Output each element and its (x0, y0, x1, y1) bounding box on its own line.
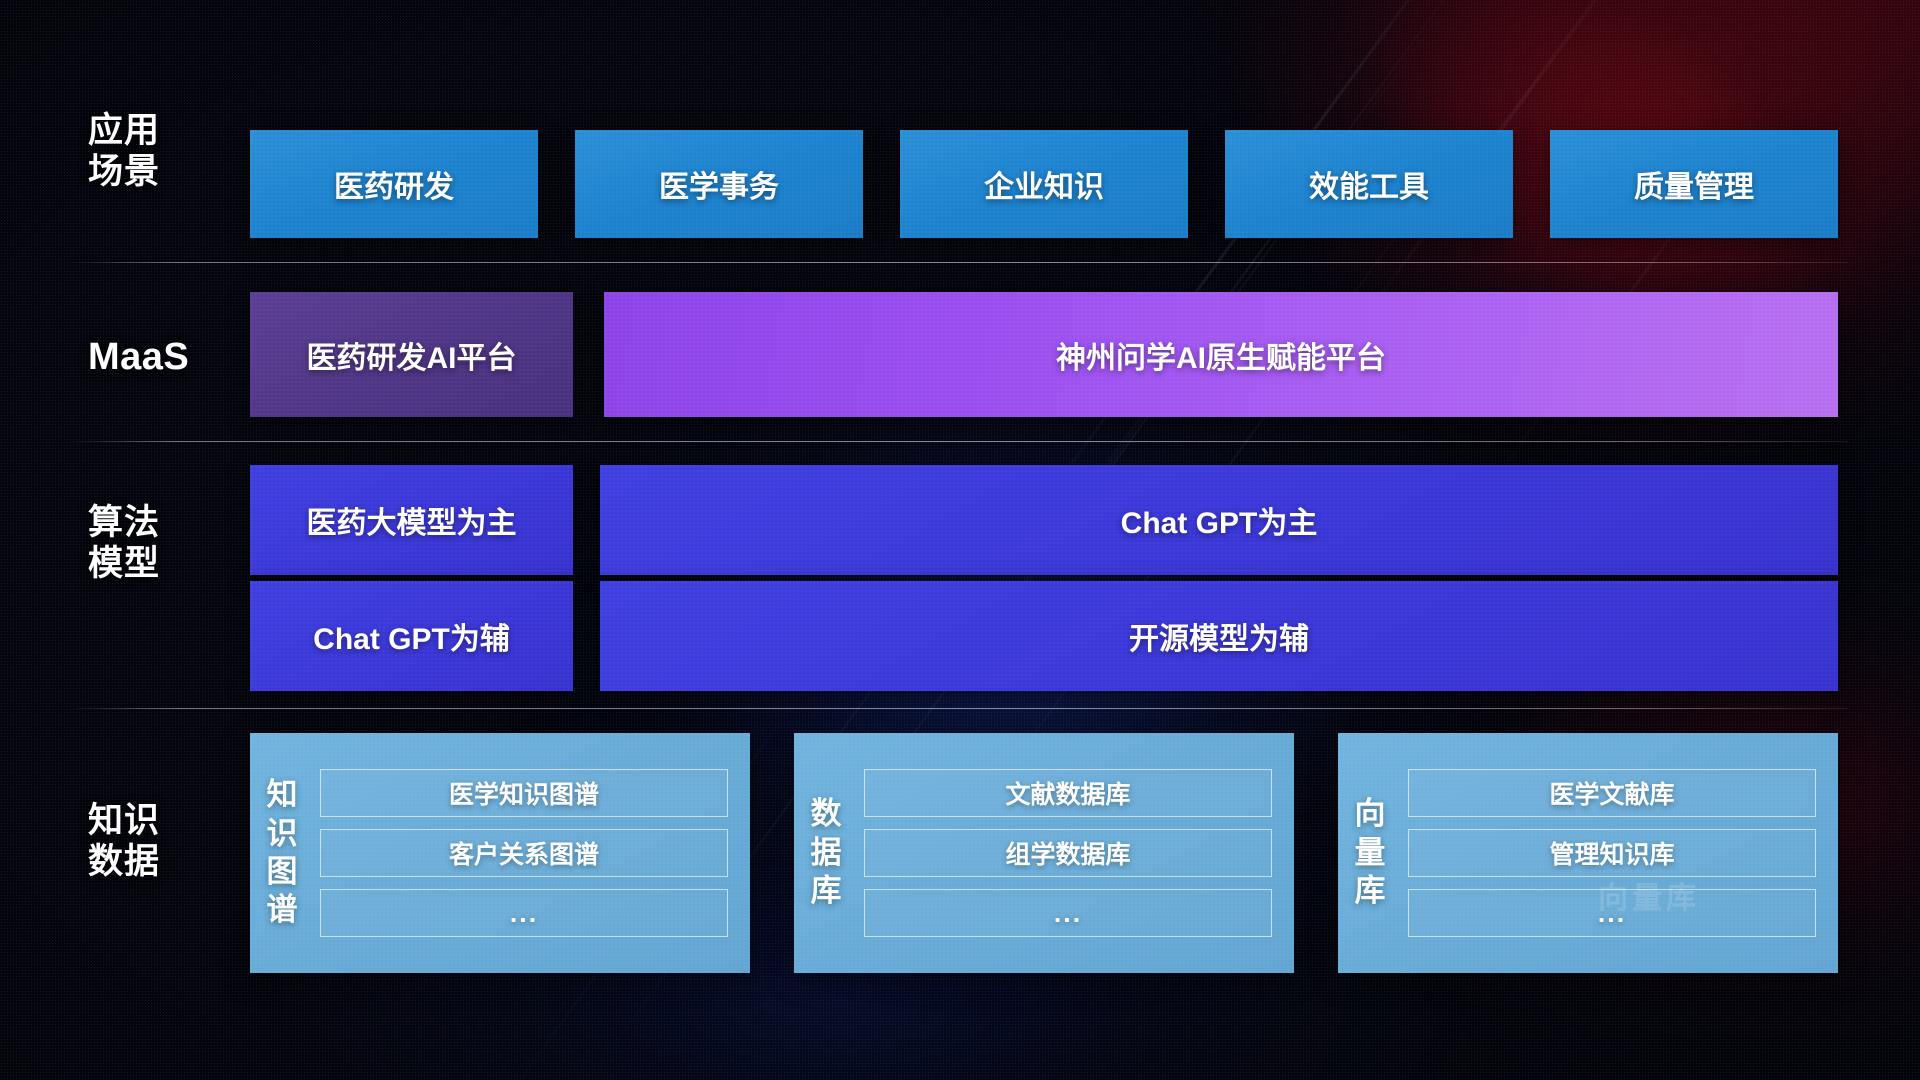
panel-title-char: 谱 (267, 891, 298, 929)
knowledge-panel-vector-title: 向 量 库 (1338, 733, 1402, 973)
divider-after-maas (72, 441, 1848, 442)
maas-platform-card-left[interactable]: 医药研发AI平台 (250, 292, 573, 417)
knowledge-item-more[interactable]: ... (864, 889, 1272, 937)
row-label-algorithm-line1: 算法 (88, 502, 220, 543)
knowledge-panel-database-items: 文献数据库 组学数据库 ... (858, 733, 1294, 973)
app-scenario-card-4-label: 效能工具 (1309, 162, 1429, 206)
row-label-application-line2: 场景 (88, 151, 220, 192)
knowledge-panel-vector[interactable]: 向量库 向 量 库 医学文献库 管理知识库 ... (1338, 733, 1838, 973)
panel-title-char: 库 (1355, 872, 1386, 910)
panel-title-char: 量 (1355, 834, 1386, 872)
row-label-maas-line1: MaaS (88, 335, 220, 380)
row-label-knowledge-line2: 数据 (88, 841, 220, 882)
row-label-application: 应用 场景 (88, 110, 220, 193)
row-label-knowledge-line1: 知识 (88, 800, 220, 841)
knowledge-item[interactable]: 医学文献库 (1408, 769, 1816, 817)
knowledge-item[interactable]: 客户关系图谱 (320, 829, 728, 877)
knowledge-item-label: ... (510, 898, 539, 929)
row-label-algorithm: 算法 模型 (88, 502, 220, 585)
knowledge-panel-graph-title: 知 识 图 谱 (250, 733, 314, 973)
app-scenario-card-3[interactable]: 企业知识 (900, 130, 1188, 238)
algorithm-card-secondary-right-label: 开源模型为辅 (1129, 614, 1309, 658)
app-scenario-card-5[interactable]: 质量管理 (1550, 130, 1838, 238)
panel-title-char: 库 (811, 872, 842, 910)
app-scenario-card-2[interactable]: 医学事务 (575, 130, 863, 238)
knowledge-item[interactable]: 医学知识图谱 (320, 769, 728, 817)
maas-platform-card-right[interactable]: 神州问学AI原生赋能平台 (604, 292, 1838, 417)
maas-platform-card-right-label: 神州问学AI原生赋能平台 (1056, 333, 1386, 377)
app-scenario-card-3-label: 企业知识 (984, 162, 1104, 206)
knowledge-item-label: ... (1054, 898, 1083, 929)
panel-title-char: 图 (267, 853, 298, 891)
knowledge-item-label: 客户关系图谱 (449, 835, 599, 871)
algorithm-card-primary-right-label: Chat GPT为主 (1121, 498, 1318, 542)
knowledge-item-more[interactable]: ... (1408, 889, 1816, 937)
knowledge-panel-graph-items: 医学知识图谱 客户关系图谱 ... (314, 733, 750, 973)
app-scenario-card-5-label: 质量管理 (1634, 162, 1754, 206)
knowledge-panel-database-title: 数 据 库 (794, 733, 858, 973)
knowledge-item-label: 医学知识图谱 (449, 775, 599, 811)
app-scenario-card-2-label: 医学事务 (659, 162, 779, 206)
panel-title-char: 据 (811, 834, 842, 872)
row-label-knowledge: 知识 数据 (88, 800, 220, 883)
app-scenario-card-1-label: 医药研发 (334, 162, 454, 206)
knowledge-item-label: 管理知识库 (1549, 835, 1674, 871)
knowledge-item-label: 文献数据库 (1005, 775, 1130, 811)
algorithm-card-primary-left[interactable]: 医药大模型为主 (250, 465, 573, 575)
maas-platform-card-left-label: 医药研发AI平台 (307, 333, 517, 377)
panel-title-char: 识 (267, 815, 298, 853)
algorithm-card-primary-right[interactable]: Chat GPT为主 (600, 465, 1838, 575)
knowledge-item[interactable]: 管理知识库 (1408, 829, 1816, 877)
row-label-maas: MaaS (88, 335, 220, 380)
knowledge-panel-graph[interactable]: 知 识 图 谱 医学知识图谱 客户关系图谱 ... (250, 733, 750, 973)
panel-title-char: 数 (811, 795, 842, 833)
knowledge-item-label: 医学文献库 (1549, 775, 1674, 811)
knowledge-item[interactable]: 文献数据库 (864, 769, 1272, 817)
algorithm-card-primary-left-label: 医药大模型为主 (307, 498, 517, 542)
knowledge-item-label: ... (1598, 898, 1627, 929)
knowledge-item-label: 组学数据库 (1005, 835, 1130, 871)
panel-title-char: 知 (267, 776, 298, 814)
divider-after-algorithm (72, 708, 1848, 709)
knowledge-panel-database[interactable]: 数 据 库 文献数据库 组学数据库 ... (794, 733, 1294, 973)
knowledge-panel-vector-items: 医学文献库 管理知识库 ... (1402, 733, 1838, 973)
divider-after-application (72, 262, 1848, 263)
algorithm-card-secondary-right[interactable]: 开源模型为辅 (600, 581, 1838, 691)
row-label-algorithm-line2: 模型 (88, 543, 220, 584)
algorithm-card-secondary-left-label: Chat GPT为辅 (313, 614, 510, 658)
knowledge-item[interactable]: 组学数据库 (864, 829, 1272, 877)
row-label-application-line1: 应用 (88, 110, 220, 151)
app-scenario-card-4[interactable]: 效能工具 (1225, 130, 1513, 238)
knowledge-item-more[interactable]: ... (320, 889, 728, 937)
panel-title-char: 向 (1355, 795, 1386, 833)
algorithm-card-secondary-left[interactable]: Chat GPT为辅 (250, 581, 573, 691)
app-scenario-card-1[interactable]: 医药研发 (250, 130, 538, 238)
